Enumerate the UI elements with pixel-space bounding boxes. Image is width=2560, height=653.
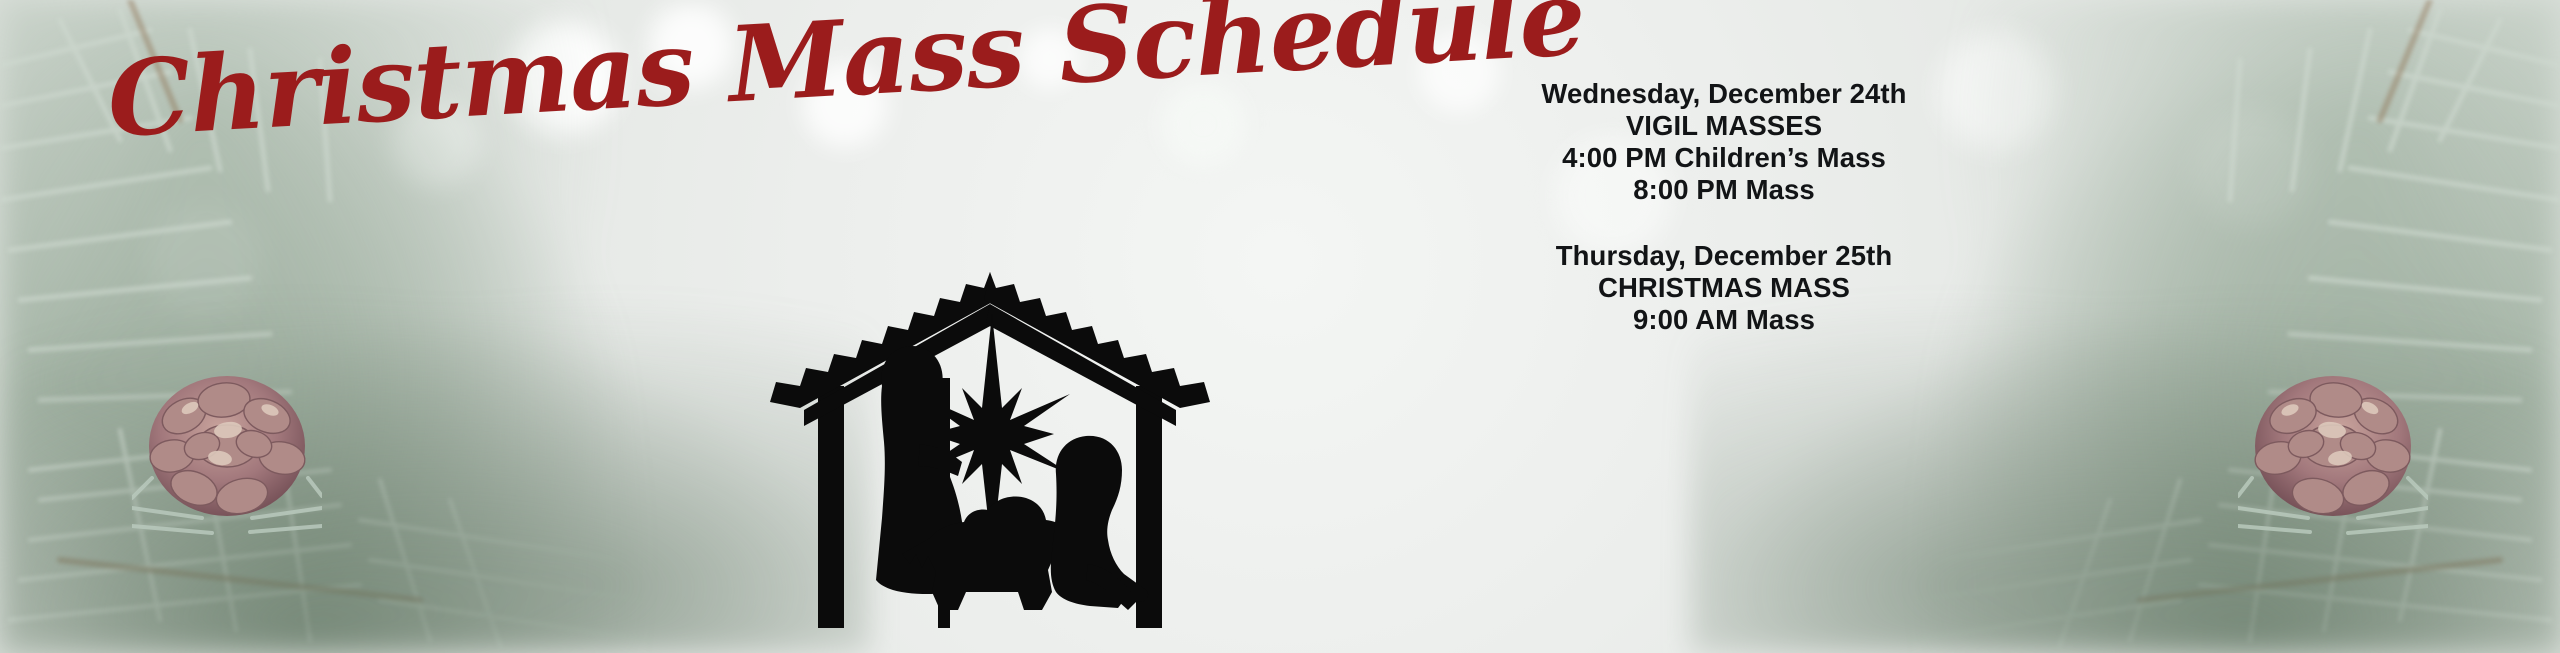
pine-bough-shadow-left [0,294,870,653]
pine-bough-shadow-right [1690,294,2560,653]
nativity-scene-icon [770,268,1210,628]
schedule-group-vigil: Wednesday, December 24th VIGIL MASSES 4:… [1489,78,1959,206]
schedule-group-christmas: Thursday, December 25th CHRISTMAS MASS 9… [1489,240,1959,336]
schedule-time-label: 8:00 PM Mass [1489,174,1959,206]
christmas-mass-schedule-banner: Christmas Mass Schedule [0,0,2560,653]
schedule-heading-label: CHRISTMAS MASS [1489,272,1959,304]
schedule-time-label: 9:00 AM Mass [1489,304,1959,336]
schedule-day-label: Thursday, December 25th [1489,240,1959,272]
schedule-heading-label: VIGIL MASSES [1489,110,1959,142]
mass-schedule-text: Wednesday, December 24th VIGIL MASSES 4:… [1489,78,1959,336]
schedule-group-spacer [1489,206,1959,240]
banner-title: Christmas Mass Schedule [110,18,830,168]
pinecone-icon-left [132,358,322,538]
schedule-time-label: 4:00 PM Children’s Mass [1489,142,1959,174]
pinecone-icon-right [2238,358,2428,538]
schedule-day-label: Wednesday, December 24th [1489,78,1959,110]
stable-post-left [818,386,844,628]
